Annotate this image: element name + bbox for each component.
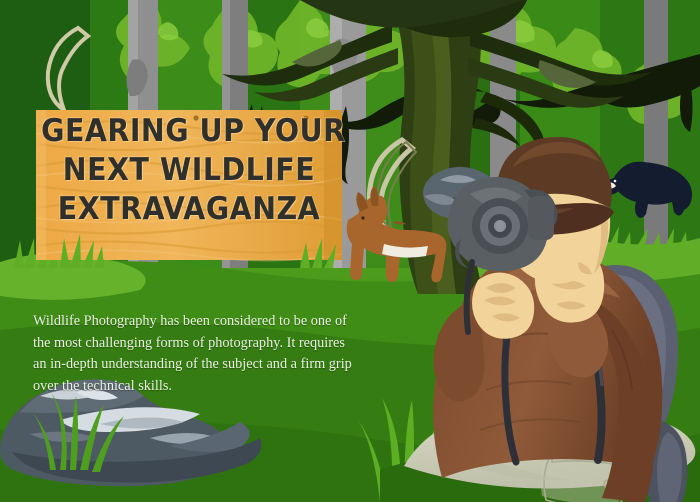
headline-line-1: Gearing Up Your — [41, 112, 337, 151]
forest-background — [0, 0, 700, 502]
poster-body-text: Wildlife Photography has been considered… — [33, 311, 353, 397]
headline-line-2: Next Wildlife — [41, 151, 337, 190]
wildlife-photography-poster: Gearing Up Your Next Wildlife Extravagan… — [0, 0, 700, 502]
poster-headline: Gearing Up Your Next Wildlife Extravagan… — [41, 112, 337, 229]
headline-line-3: Extravaganza — [41, 190, 337, 229]
